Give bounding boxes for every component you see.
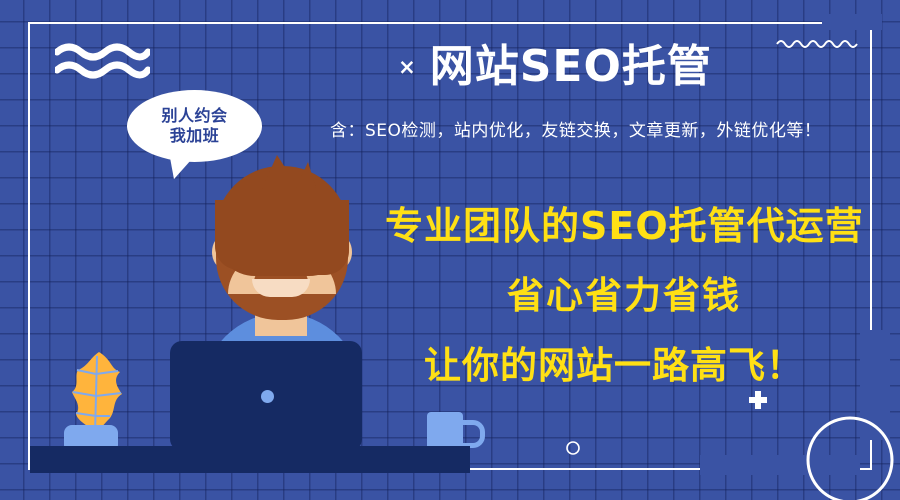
poster-title-row: × 网站SEO托管 — [340, 44, 770, 90]
plus-icon — [749, 391, 767, 409]
circle-outline-icon — [565, 440, 581, 456]
speech-bubble: 别人约会 我加班 — [127, 90, 262, 162]
seo-promo-poster: × 网站SEO托管 含：SEO检测，站内优化，友链交换，文章更新，外链优化等！ … — [0, 0, 900, 500]
headline-2: 省心省力省钱 — [507, 265, 741, 319]
headline-1: 专业团队的SEO托管代运营 — [385, 195, 864, 250]
desk-surface — [30, 455, 470, 473]
person-hair-spike — [262, 155, 299, 189]
page-title: 网站SEO托管 — [430, 44, 712, 90]
wave-thick-icon — [55, 42, 150, 82]
speech-bubble-line-2: 我加班 — [170, 127, 220, 145]
person-hair-spike-small — [296, 162, 316, 188]
person-hair-side-right — [305, 200, 349, 275]
speech-bubble-line-1: 别人约会 — [161, 107, 227, 125]
corner-circle-icon — [800, 415, 900, 500]
headline-3: 让你的网站一路高飞！ — [424, 335, 804, 389]
speech-bubble-text: 别人约会 我加班 — [127, 90, 262, 162]
poster-subtitle: 含：SEO检测，站内优化，友链交换，文章更新，外链优化等！ — [330, 116, 890, 141]
laptop-logo-dot-icon — [261, 390, 274, 403]
frame-gap-top-right — [822, 14, 882, 30]
person-mouth — [252, 279, 310, 297]
title-bullet-icon: × — [398, 57, 416, 78]
person-hair-side-left — [215, 200, 257, 270]
wave-thin-icon — [775, 36, 861, 50]
plant-leaf-icon — [62, 350, 136, 435]
